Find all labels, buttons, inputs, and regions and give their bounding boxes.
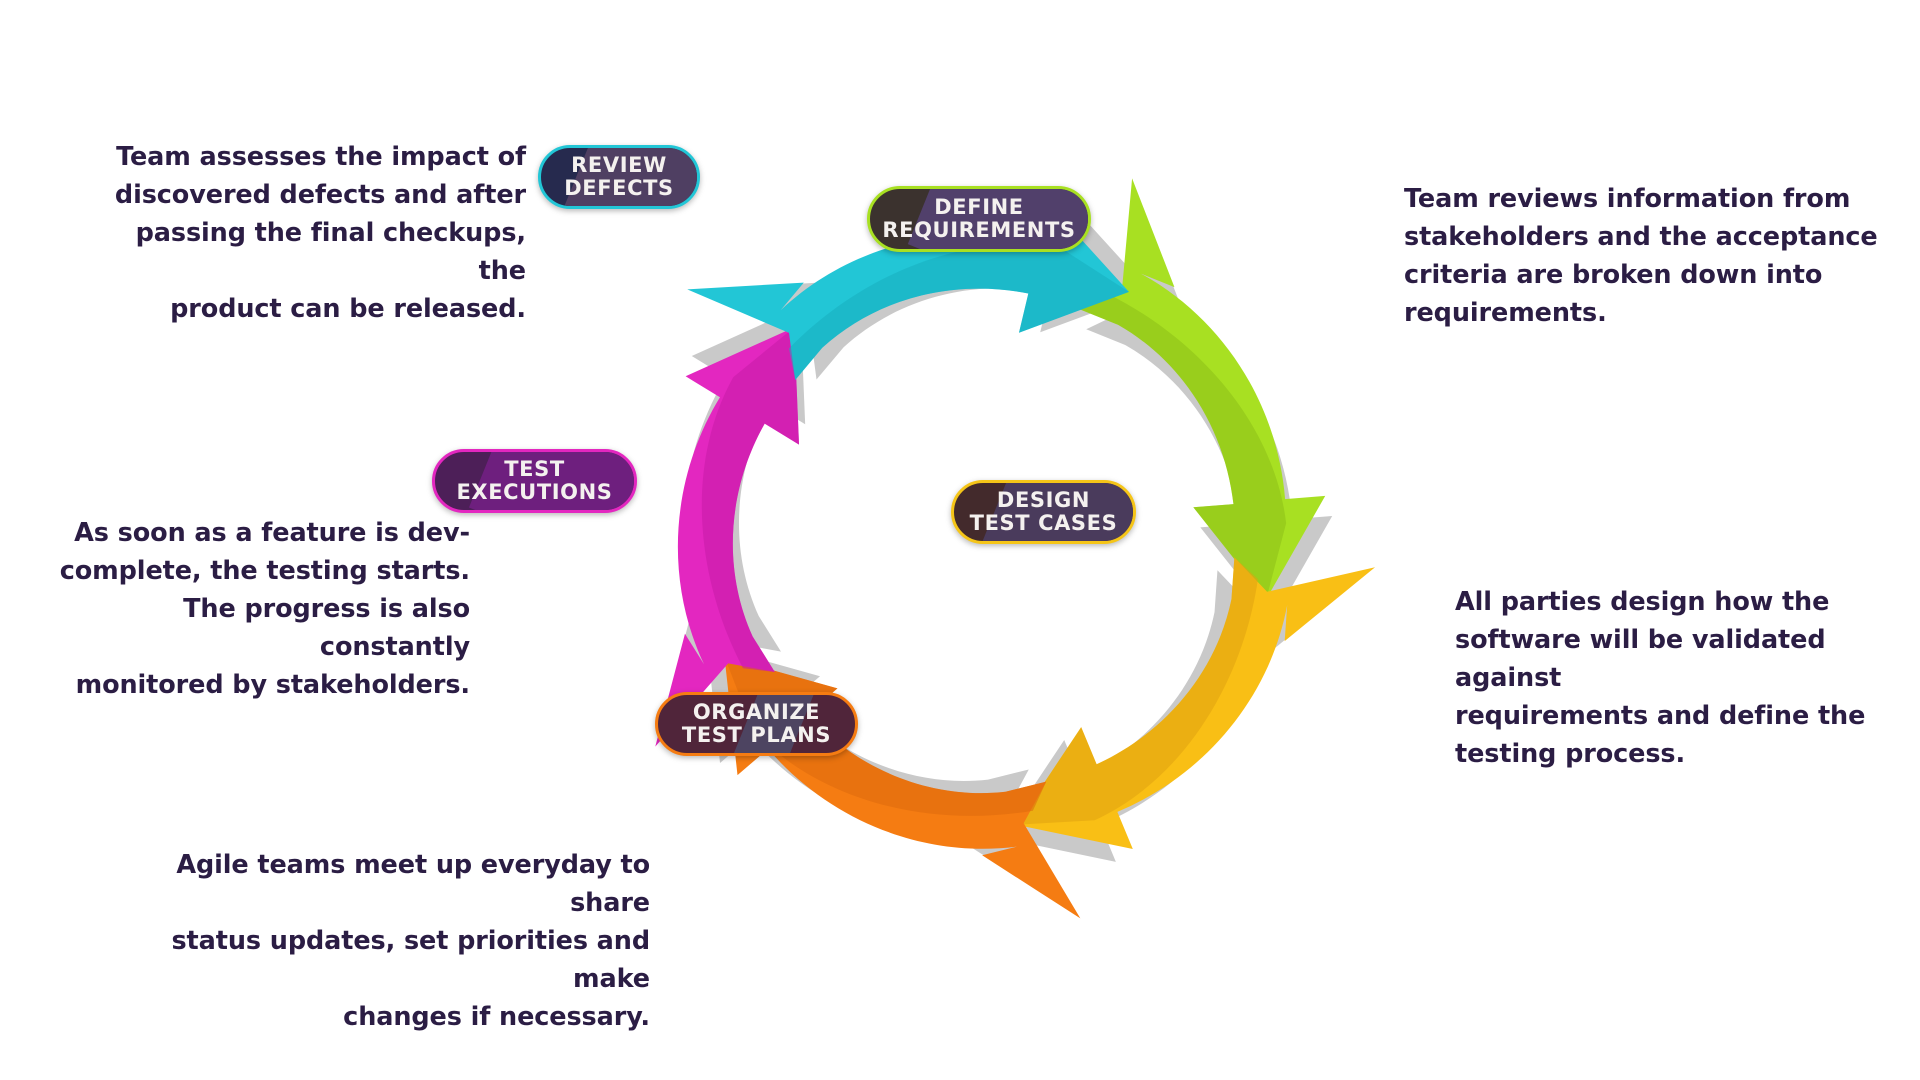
step-label-design-test-cases[interactable]: DESIGN TEST CASES xyxy=(951,480,1136,544)
step-label-line2: DEFECTS xyxy=(564,177,674,200)
description-design-test-cases: All parties design how the software will… xyxy=(1455,583,1920,773)
step-label-line2: TEST PLANS xyxy=(682,724,831,747)
step-label-line2: REQUIREMENTS xyxy=(882,219,1075,242)
step-label-organize-test-plans[interactable]: ORGANIZE TEST PLANS xyxy=(655,692,858,756)
step-label-line2: EXECUTIONS xyxy=(456,481,612,504)
step-label-test-executions[interactable]: TEST EXECUTIONS xyxy=(432,449,637,513)
description-review-defects: Team assesses the impact of discovered d… xyxy=(96,138,526,328)
step-label-review-defects[interactable]: REVIEW DEFECTS xyxy=(538,145,700,209)
step-label-line1: REVIEW xyxy=(571,154,667,177)
diagram-canvas: Team assesses the impact of discovered d… xyxy=(0,0,1920,1080)
description-define-requirements: Team reviews information from stakeholde… xyxy=(1404,180,1904,332)
arrow-design-test-cases xyxy=(1015,543,1375,864)
arrow-organize-test-plans xyxy=(709,589,1080,991)
description-test-executions: As soon as a feature is dev- complete, t… xyxy=(50,514,470,704)
step-label-line2: TEST CASES xyxy=(970,512,1118,535)
step-label-line1: TEST xyxy=(504,458,565,481)
step-label-line1: ORGANIZE xyxy=(693,701,820,724)
step-label-define-requirements[interactable]: DEFINE REQUIREMENTS xyxy=(867,186,1091,252)
step-label-line1: DEFINE xyxy=(934,196,1023,219)
step-label-line1: DESIGN xyxy=(997,489,1090,512)
